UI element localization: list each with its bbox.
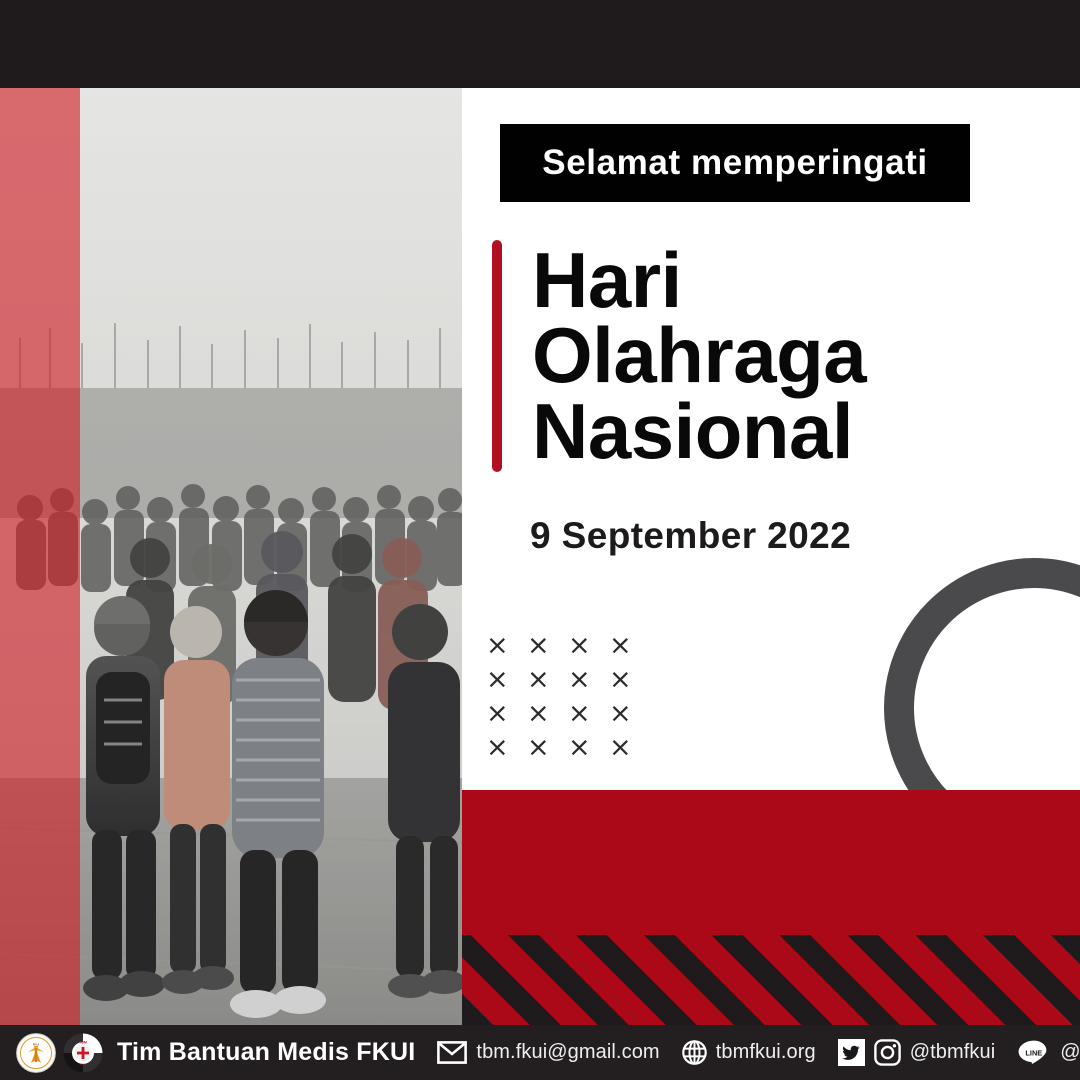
- x-cell: ×: [568, 628, 609, 662]
- x-cell: ×: [568, 730, 609, 764]
- cross-icon: ×: [568, 700, 591, 727]
- cross-icon: ×: [486, 632, 509, 659]
- cross-icon: ×: [568, 666, 591, 693]
- cross-icon: ×: [486, 700, 509, 727]
- social-handle-text: @tbmfkui: [910, 1041, 996, 1064]
- line-handle-text: @feg9755n: [1060, 1041, 1080, 1064]
- cross-icon: ×: [609, 666, 632, 693]
- cross-icon: ×: [609, 734, 632, 761]
- x-cell: ×: [527, 662, 568, 696]
- contact-website[interactable]: tbmfkui.org: [682, 1040, 816, 1065]
- fkui-makara-logo: FKUI: [16, 1033, 56, 1073]
- line-icon-label: LINE: [1026, 1048, 1043, 1057]
- x-pattern-decoration: × × × × × × × × × × × × × × × ×: [486, 628, 650, 764]
- svg-text:FKUI: FKUI: [33, 1042, 40, 1046]
- x-cell: ×: [609, 628, 650, 662]
- footer-bar: FKUI TBM FKUI Tim Bantuan Medis FKUI: [0, 1025, 1080, 1080]
- x-cell: ×: [527, 628, 568, 662]
- cross-icon: ×: [609, 700, 632, 727]
- x-cell: ×: [568, 662, 609, 696]
- cross-icon: ×: [568, 632, 591, 659]
- footer-logos: FKUI TBM FKUI: [16, 1033, 103, 1073]
- tbm-fkui-logo: TBM FKUI: [63, 1033, 103, 1073]
- greeting-banner-label: Selamat memperingati: [542, 143, 927, 183]
- email-text: tbm.fkui@gmail.com: [476, 1041, 659, 1064]
- headline-line-2: Olahraga: [532, 318, 866, 394]
- x-cell: ×: [609, 730, 650, 764]
- contact-email[interactable]: tbm.fkui@gmail.com: [437, 1041, 659, 1064]
- headline-line-3: Nasional: [532, 394, 866, 470]
- x-cell: ×: [527, 696, 568, 730]
- cross-icon: ×: [486, 734, 509, 761]
- x-cell: ×: [527, 730, 568, 764]
- email-icon: [437, 1041, 467, 1064]
- cross-icon: ×: [486, 666, 509, 693]
- x-cell: ×: [609, 696, 650, 730]
- globe-icon: [682, 1040, 707, 1065]
- cross-icon: ×: [527, 700, 550, 727]
- greeting-banner: Selamat memperingati: [500, 124, 970, 202]
- website-text: tbmfkui.org: [716, 1041, 816, 1064]
- x-cell: ×: [486, 696, 527, 730]
- headline-block: Hari Olahraga Nasional: [492, 240, 866, 472]
- instagram-icon[interactable]: [874, 1039, 901, 1066]
- x-cell: ×: [486, 628, 527, 662]
- red-photo-overlay: [0, 88, 80, 1025]
- x-cell: ×: [486, 730, 527, 764]
- red-block-decoration: [462, 790, 1080, 1025]
- diagonal-stripes-decoration: [462, 935, 1080, 1025]
- x-cell: ×: [486, 662, 527, 696]
- event-date: 9 September 2022: [530, 515, 851, 557]
- headline-accent-bar: [492, 240, 502, 472]
- cross-icon: ×: [527, 632, 550, 659]
- x-cell: ×: [609, 662, 650, 696]
- headline-lines: Hari Olahraga Nasional: [532, 240, 866, 472]
- contact-line[interactable]: LINE @feg9755n: [1017, 1039, 1080, 1066]
- cross-icon: ×: [609, 632, 632, 659]
- svg-text:FKUI: FKUI: [80, 1062, 86, 1066]
- line-icon: LINE: [1017, 1039, 1051, 1066]
- top-bar: [0, 0, 1080, 88]
- contact-social[interactable]: @tbmfkui: [838, 1039, 996, 1066]
- cross-icon: ×: [527, 666, 550, 693]
- svg-text:TBM: TBM: [79, 1040, 87, 1044]
- cross-icon: ×: [527, 734, 550, 761]
- headline-line-1: Hari: [532, 243, 866, 319]
- twitter-icon[interactable]: [838, 1039, 865, 1066]
- cross-icon: ×: [568, 734, 591, 761]
- poster-canvas: Selamat memperingati Hari Olahraga Nasio…: [0, 0, 1080, 1080]
- organization-name: Tim Bantuan Medis FKUI: [117, 1038, 415, 1067]
- x-cell: ×: [568, 696, 609, 730]
